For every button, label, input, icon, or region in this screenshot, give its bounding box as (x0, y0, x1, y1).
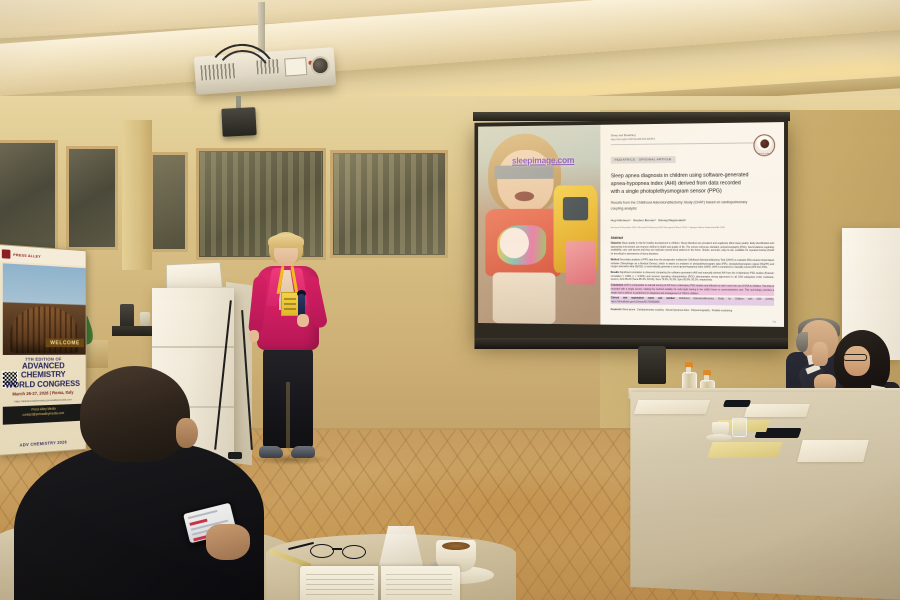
seal-mark (760, 139, 769, 148)
abstract-trial-registration: Clinical trial registration name and num… (611, 297, 774, 306)
eyeglasses (310, 544, 382, 558)
ceiling-speaker (221, 107, 256, 137)
header-rule (611, 142, 774, 145)
badge-line (284, 298, 296, 300)
screen-line (188, 510, 218, 519)
banner-photo: WELCOME (3, 263, 86, 355)
side-table-cup (140, 312, 150, 326)
objective-label: Objective (611, 242, 621, 245)
presenter-badge (281, 292, 299, 316)
attendee-man-hand (812, 342, 828, 366)
side-table-object (120, 304, 134, 328)
presenter-shoe-right (291, 446, 315, 458)
abstract-heading: Abstract (611, 236, 774, 240)
attendee-woman-face (844, 346, 870, 376)
presenter-hand-right (297, 314, 309, 327)
eye-redaction-bar (495, 165, 553, 179)
presenter-fringe (268, 234, 304, 248)
panel-paper (744, 404, 810, 417)
article-section-tag: PEDIATRICS · ORIGINAL ARTICLE (611, 156, 675, 164)
window-left-3 (150, 152, 188, 252)
glasses-bridge (332, 548, 342, 550)
foreground-attendee-head (80, 366, 190, 462)
drape-fold (152, 346, 234, 348)
projection-screen-frame: sleepimage.com Sleep and Breathing https… (474, 118, 788, 346)
coffee-surface (442, 542, 470, 550)
presenter-leg-gap (286, 382, 290, 448)
article-received-line: Received 3 November 2019 / Revised 24 Fe… (611, 227, 774, 230)
window-left-1 (0, 140, 58, 252)
eyeglasses-icon (843, 354, 867, 361)
window-left-2 (66, 146, 118, 250)
unicorn-graphic (497, 225, 546, 265)
sleepimage-url-overlay: sleepimage.com (512, 155, 574, 165)
projector-control-panel (284, 57, 307, 76)
foreground-attendee-ear (176, 418, 198, 448)
results-label: Results (611, 271, 619, 274)
article-subtitle: Results from the Childhood Adenotonsille… (611, 201, 751, 212)
curtain-2 (334, 154, 444, 254)
method-label: Method (611, 258, 619, 261)
article-keywords: Keywords Sleep apnea · Cardiopulmonary c… (611, 308, 774, 313)
projection-screen: sleepimage.com Sleep and Breathing https… (478, 122, 784, 327)
projector-lens (310, 55, 330, 75)
keywords-label: Keywords (611, 308, 622, 311)
seal-caption: Check for updates (754, 154, 774, 156)
conclusion-label: Conclusion (611, 284, 624, 287)
panel-notepad (707, 442, 782, 458)
panel-phone (723, 400, 751, 407)
results-text: Significant correlation is observed comp… (611, 271, 774, 282)
toy-pink-part (566, 241, 596, 285)
banner-media-logo-text: PRESS ALLEY (13, 252, 41, 259)
notebook-spine (378, 566, 381, 600)
abstract-objective: Objective Sleep quality is vital for hea… (611, 242, 774, 257)
conference-room-photo: PRESS ALLEY WELCOME 7TH EDITION OF ADVAN… (0, 0, 900, 600)
panel-saucer (706, 434, 732, 441)
presenter-shoe-left (259, 446, 283, 458)
screen-bottom-bar (474, 338, 788, 349)
presenter-hand-left (249, 330, 259, 342)
crossmark-seal-icon: Check for updates (753, 134, 775, 156)
objective-text: Sleep quality is vital for healthy devel… (611, 242, 774, 256)
drinking-glass (732, 418, 747, 437)
abstract-conclusion: Conclusion sAHI is comparable to manual … (611, 284, 774, 296)
lens-right (342, 545, 366, 559)
logo-mark-icon (2, 249, 11, 259)
slide-child-photo: sleepimage.com (478, 125, 600, 325)
abstract-results: Results Significant correlation is obser… (611, 271, 774, 283)
presenter (243, 232, 339, 466)
panel-open-folder (797, 440, 868, 462)
foreground-attendee (26, 366, 252, 600)
lens-left (310, 544, 334, 558)
child-pants (493, 272, 556, 324)
slide-paper-page: Sleep and Breathing https://doi.org/10.1… (600, 122, 784, 327)
banner-welcome-ribbon: WELCOME (46, 338, 84, 347)
conclusion-text: sAHI is comparable to manual scoring of … (611, 284, 774, 295)
attendee-man-hair-side (796, 332, 808, 352)
page-number: 750 (772, 322, 776, 324)
toy-panel (563, 197, 588, 221)
article-title: Sleep apnea diagnosis in children using … (611, 171, 751, 196)
badge-line (284, 303, 296, 305)
notebook-text-lines (306, 574, 374, 598)
panel-paper (634, 400, 711, 414)
waste-bin (638, 346, 666, 384)
notebook-text-lines (386, 574, 452, 598)
keywords-text: Sleep apnea · Cardiopulmonary coupling ·… (622, 308, 732, 312)
foreground-attendee-hand (206, 524, 250, 560)
wall-column (122, 120, 152, 270)
article-authors: Hugi Hilmisson¹ · Stephen Berman² · Solv… (611, 218, 774, 222)
badge-line (284, 308, 296, 310)
method-text: Secondary analysis of PPG data from the … (611, 258, 774, 269)
abstract-method: Method Secondary analysis of PPG data fr… (611, 258, 774, 270)
child-mouth (514, 191, 533, 201)
